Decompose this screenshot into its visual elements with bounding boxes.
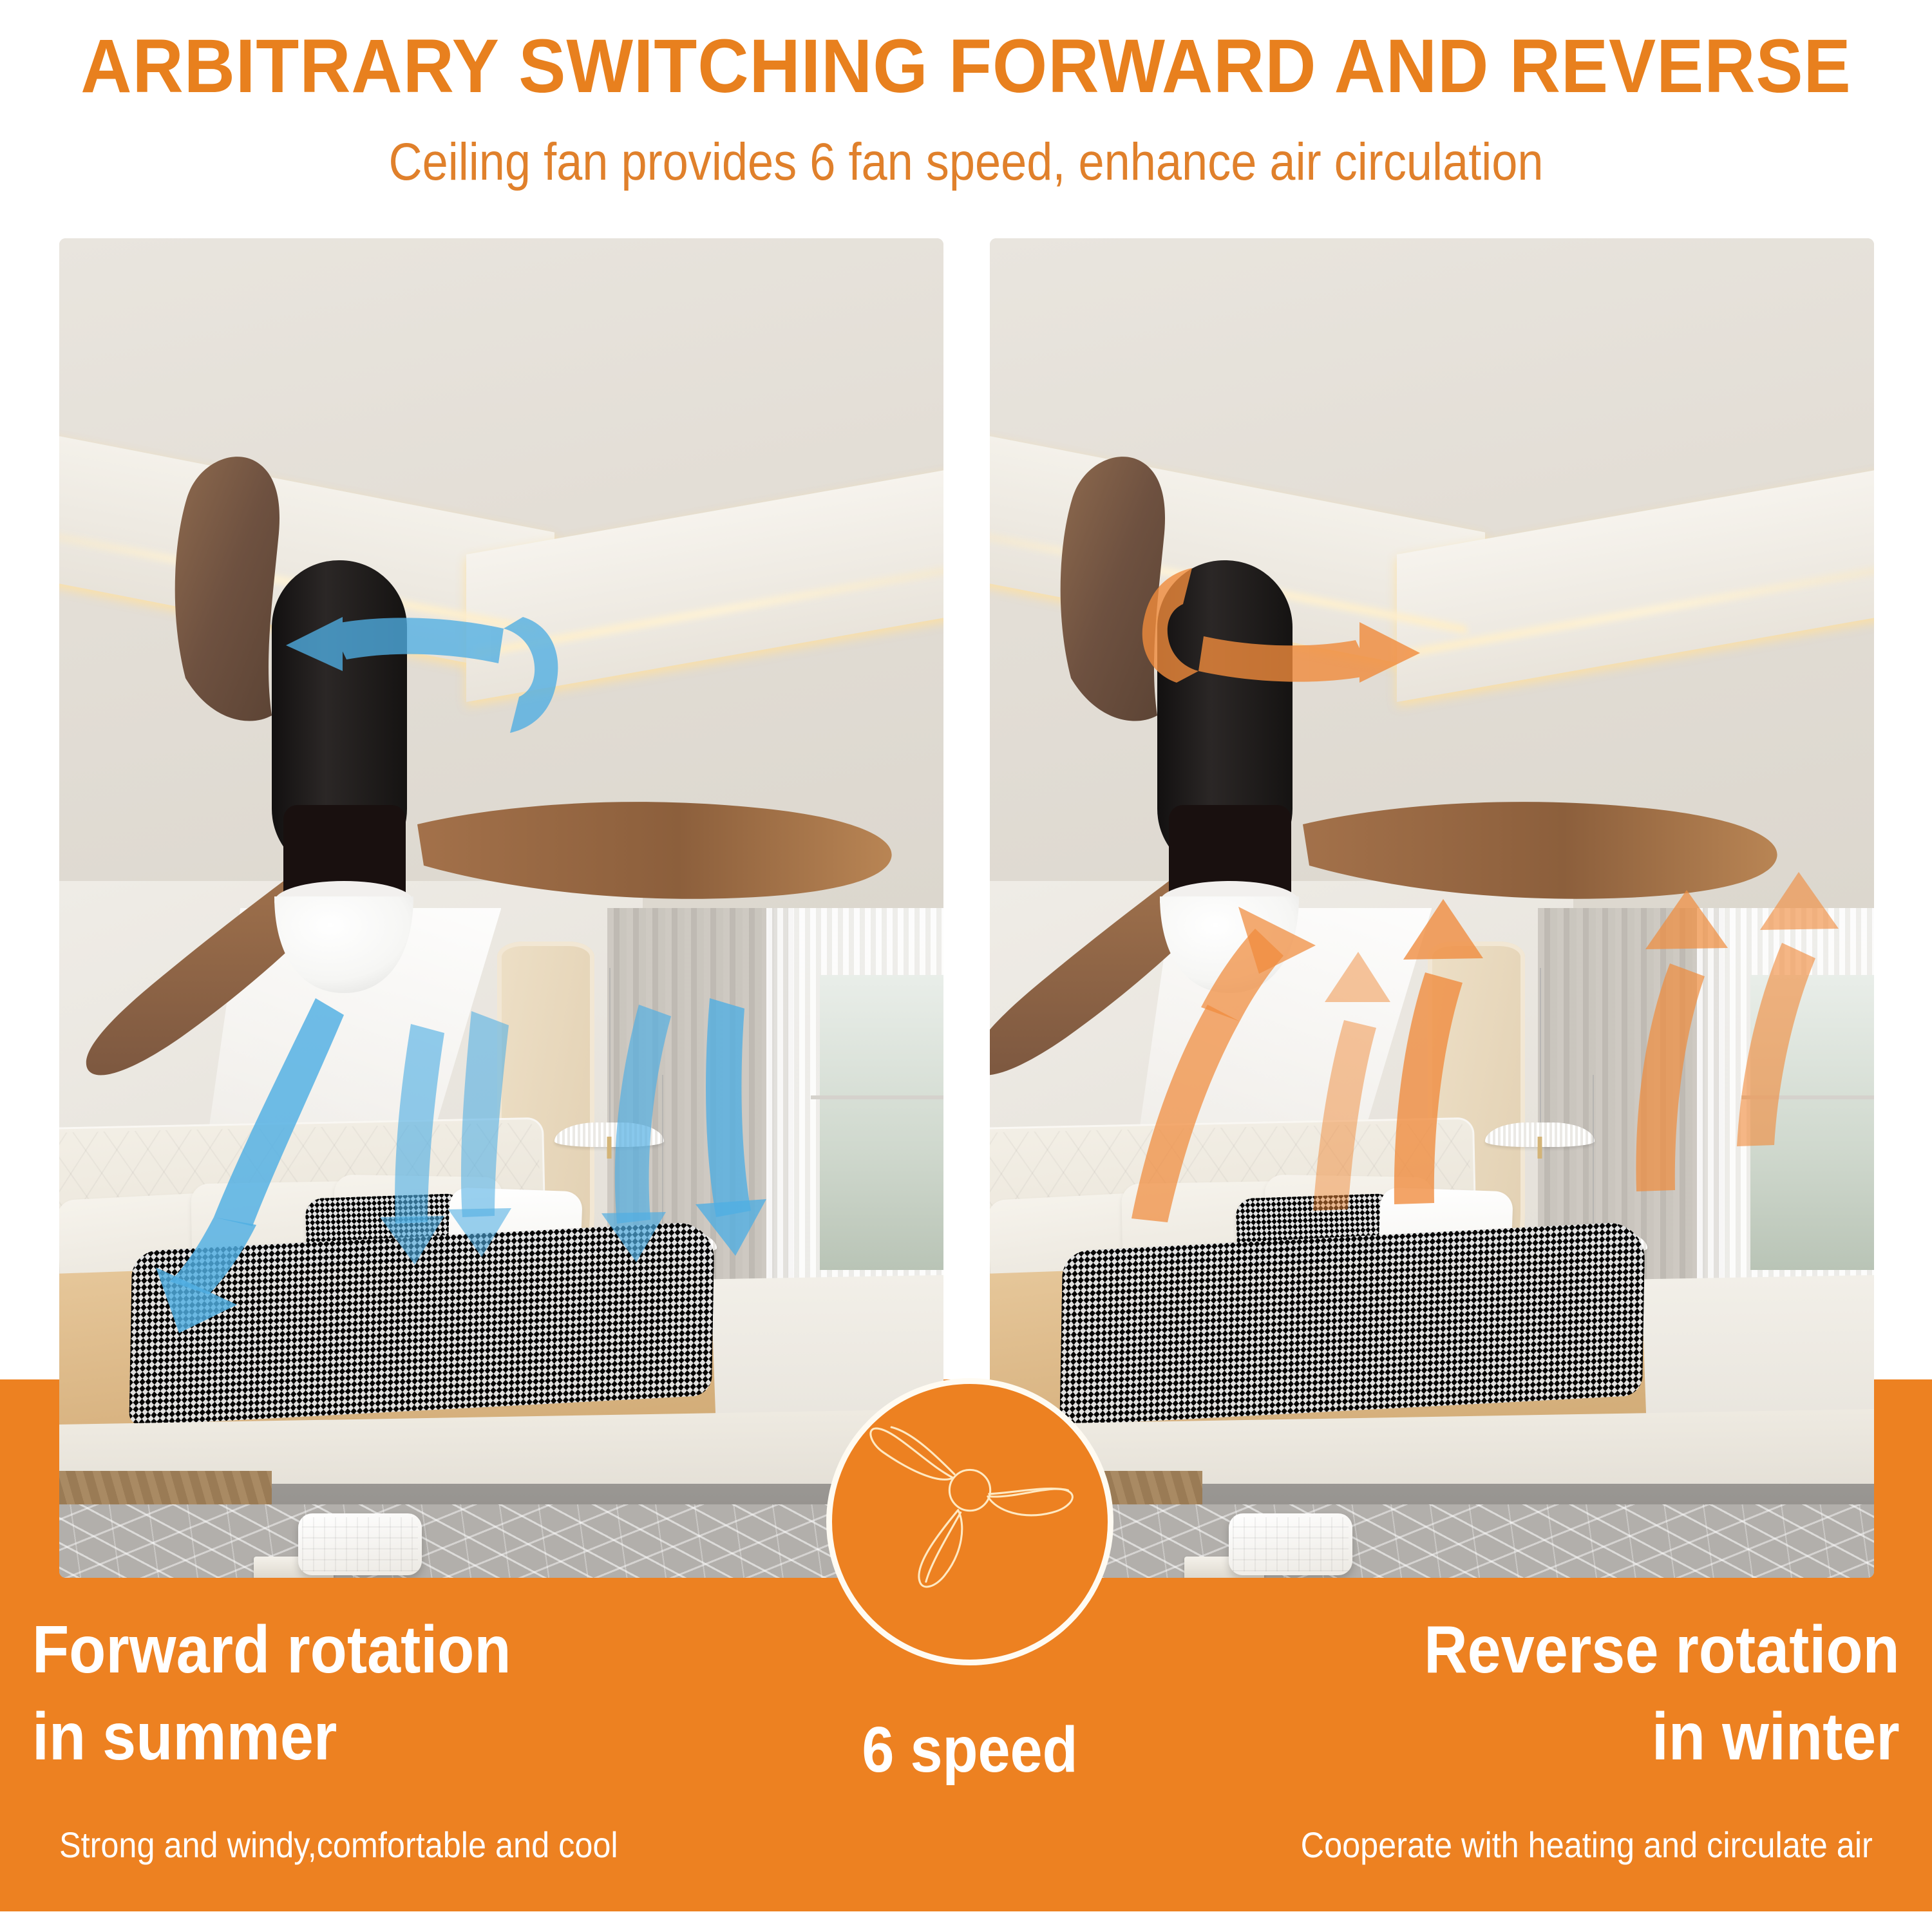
fan-blade — [417, 802, 892, 899]
speed-label: 6 speed — [862, 1713, 1077, 1787]
forward-heading-line2: in summer — [32, 1700, 337, 1774]
fan-blades-icon — [832, 1384, 1108, 1660]
reverse-rotation-heading: Reverse rotation in winter — [1424, 1607, 1900, 1781]
page-subtitle: Ceiling fan provides 6 fan speed, enhanc… — [116, 132, 1816, 193]
fan-badge — [826, 1378, 1113, 1665]
fan-light-dome — [274, 896, 413, 993]
page-title: ARBITRARY SWITCHING FORWARD AND REVERSE — [68, 27, 1864, 107]
reverse-heading-line1: Reverse rotation — [1424, 1613, 1900, 1687]
forward-rotation-photo — [59, 238, 943, 1578]
header: ARBITRARY SWITCHING FORWARD AND REVERSE … — [0, 0, 1932, 238]
ceiling-fan — [990, 238, 1874, 1578]
forward-heading-line1: Forward rotation — [32, 1613, 511, 1687]
reverse-caption: Cooperate with heating and circulate air — [1301, 1824, 1873, 1866]
forward-caption: Strong and windy,comfortable and cool — [59, 1824, 618, 1866]
fan-blade — [1061, 457, 1165, 721]
reverse-heading-line2: in winter — [1652, 1700, 1900, 1774]
fan-blade — [175, 457, 279, 721]
reverse-rotation-photo — [990, 238, 1874, 1578]
forward-rotation-heading: Forward rotation in summer — [32, 1607, 511, 1781]
fan-light-dome — [1160, 896, 1299, 993]
fan-blade — [1303, 802, 1777, 899]
ceiling-fan — [59, 238, 943, 1578]
